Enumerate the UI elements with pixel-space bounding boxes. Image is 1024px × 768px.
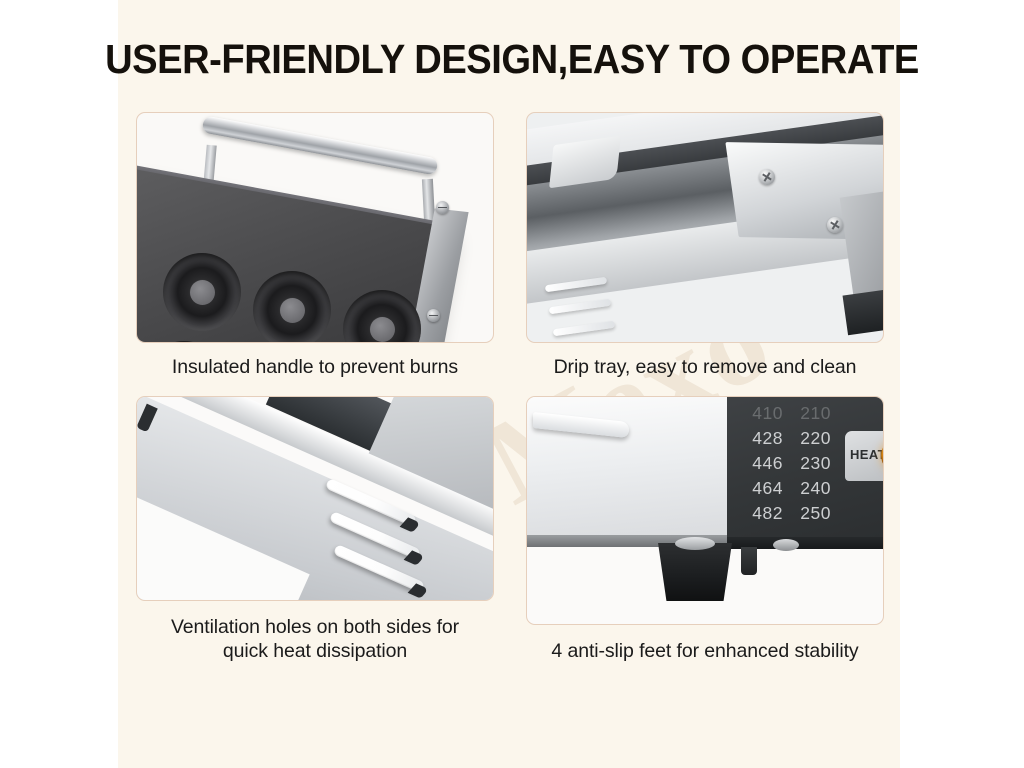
feature-grid: Insulated handle to prevent burns Drip t… (136, 112, 884, 732)
feature-caption: Ventilation holes on both sides for quic… (136, 615, 494, 665)
temp-value-c: 210 (791, 401, 831, 426)
donut-cavity (163, 253, 241, 331)
handle-bar (201, 115, 438, 175)
temperature-scale-celsius: 210 220 230 240 250 (791, 401, 831, 526)
feature-card-insulated-handle: Insulated handle to prevent burns (136, 112, 494, 380)
base-stud (773, 539, 799, 551)
photo-drip-tray (526, 112, 884, 343)
screw-icon (436, 201, 449, 214)
temp-value-f: 428 (739, 426, 783, 451)
feature-card-drip-tray: Drip tray, easy to remove and clean (526, 112, 884, 380)
feature-caption: Insulated handle to prevent burns (136, 355, 494, 380)
vent-slot (553, 321, 615, 337)
photo-insulated-handle (136, 112, 494, 343)
temp-value-f: 482 (739, 501, 783, 526)
temp-value-c: 230 (791, 451, 831, 476)
infographic-page: Mexo USER-FRIENDLY DESIGN,EASY TO OPERAT… (0, 0, 1024, 768)
screw-icon (827, 217, 843, 233)
feature-card-anti-slip-feet: 410 428 446 464 482 210 220 230 240 250 … (526, 396, 884, 664)
feature-card-ventilation: Ventilation holes on both sides for quic… (136, 396, 494, 664)
vent-slot (549, 299, 611, 315)
temp-value-c: 240 (791, 476, 831, 501)
base-bracket (741, 547, 757, 575)
page-title: USER-FRIENDLY DESIGN,EASY TO OPERATE (36, 36, 988, 83)
screw-icon (427, 309, 440, 322)
temperature-scale-fahrenheit: 410 428 446 464 482 (739, 401, 783, 526)
anti-slip-foot-cap (675, 537, 715, 550)
unit-side-wall (840, 189, 884, 306)
photo-anti-slip-feet: 410 428 446 464 482 210 220 230 240 250 … (526, 396, 884, 625)
temp-value-f: 464 (739, 476, 783, 501)
temp-value-c: 250 (791, 501, 831, 526)
photo-ventilation (136, 396, 494, 601)
unit-base-shadow (843, 287, 884, 336)
temp-value-c: 220 (791, 426, 831, 451)
temp-value-f: 410 (739, 401, 783, 426)
screw-icon (759, 169, 775, 185)
feature-caption-line1: Ventilation holes on both sides for (171, 616, 459, 638)
feature-caption: 4 anti-slip feet for enhanced stability (526, 639, 884, 664)
feature-caption-line2: quick heat dissipation (223, 640, 407, 662)
feature-caption: Drip tray, easy to remove and clean (526, 355, 884, 380)
heat-label: HEAT (849, 447, 884, 462)
anti-slip-foot (653, 543, 737, 601)
temp-value-f: 446 (739, 451, 783, 476)
donut-cavity (253, 271, 331, 343)
